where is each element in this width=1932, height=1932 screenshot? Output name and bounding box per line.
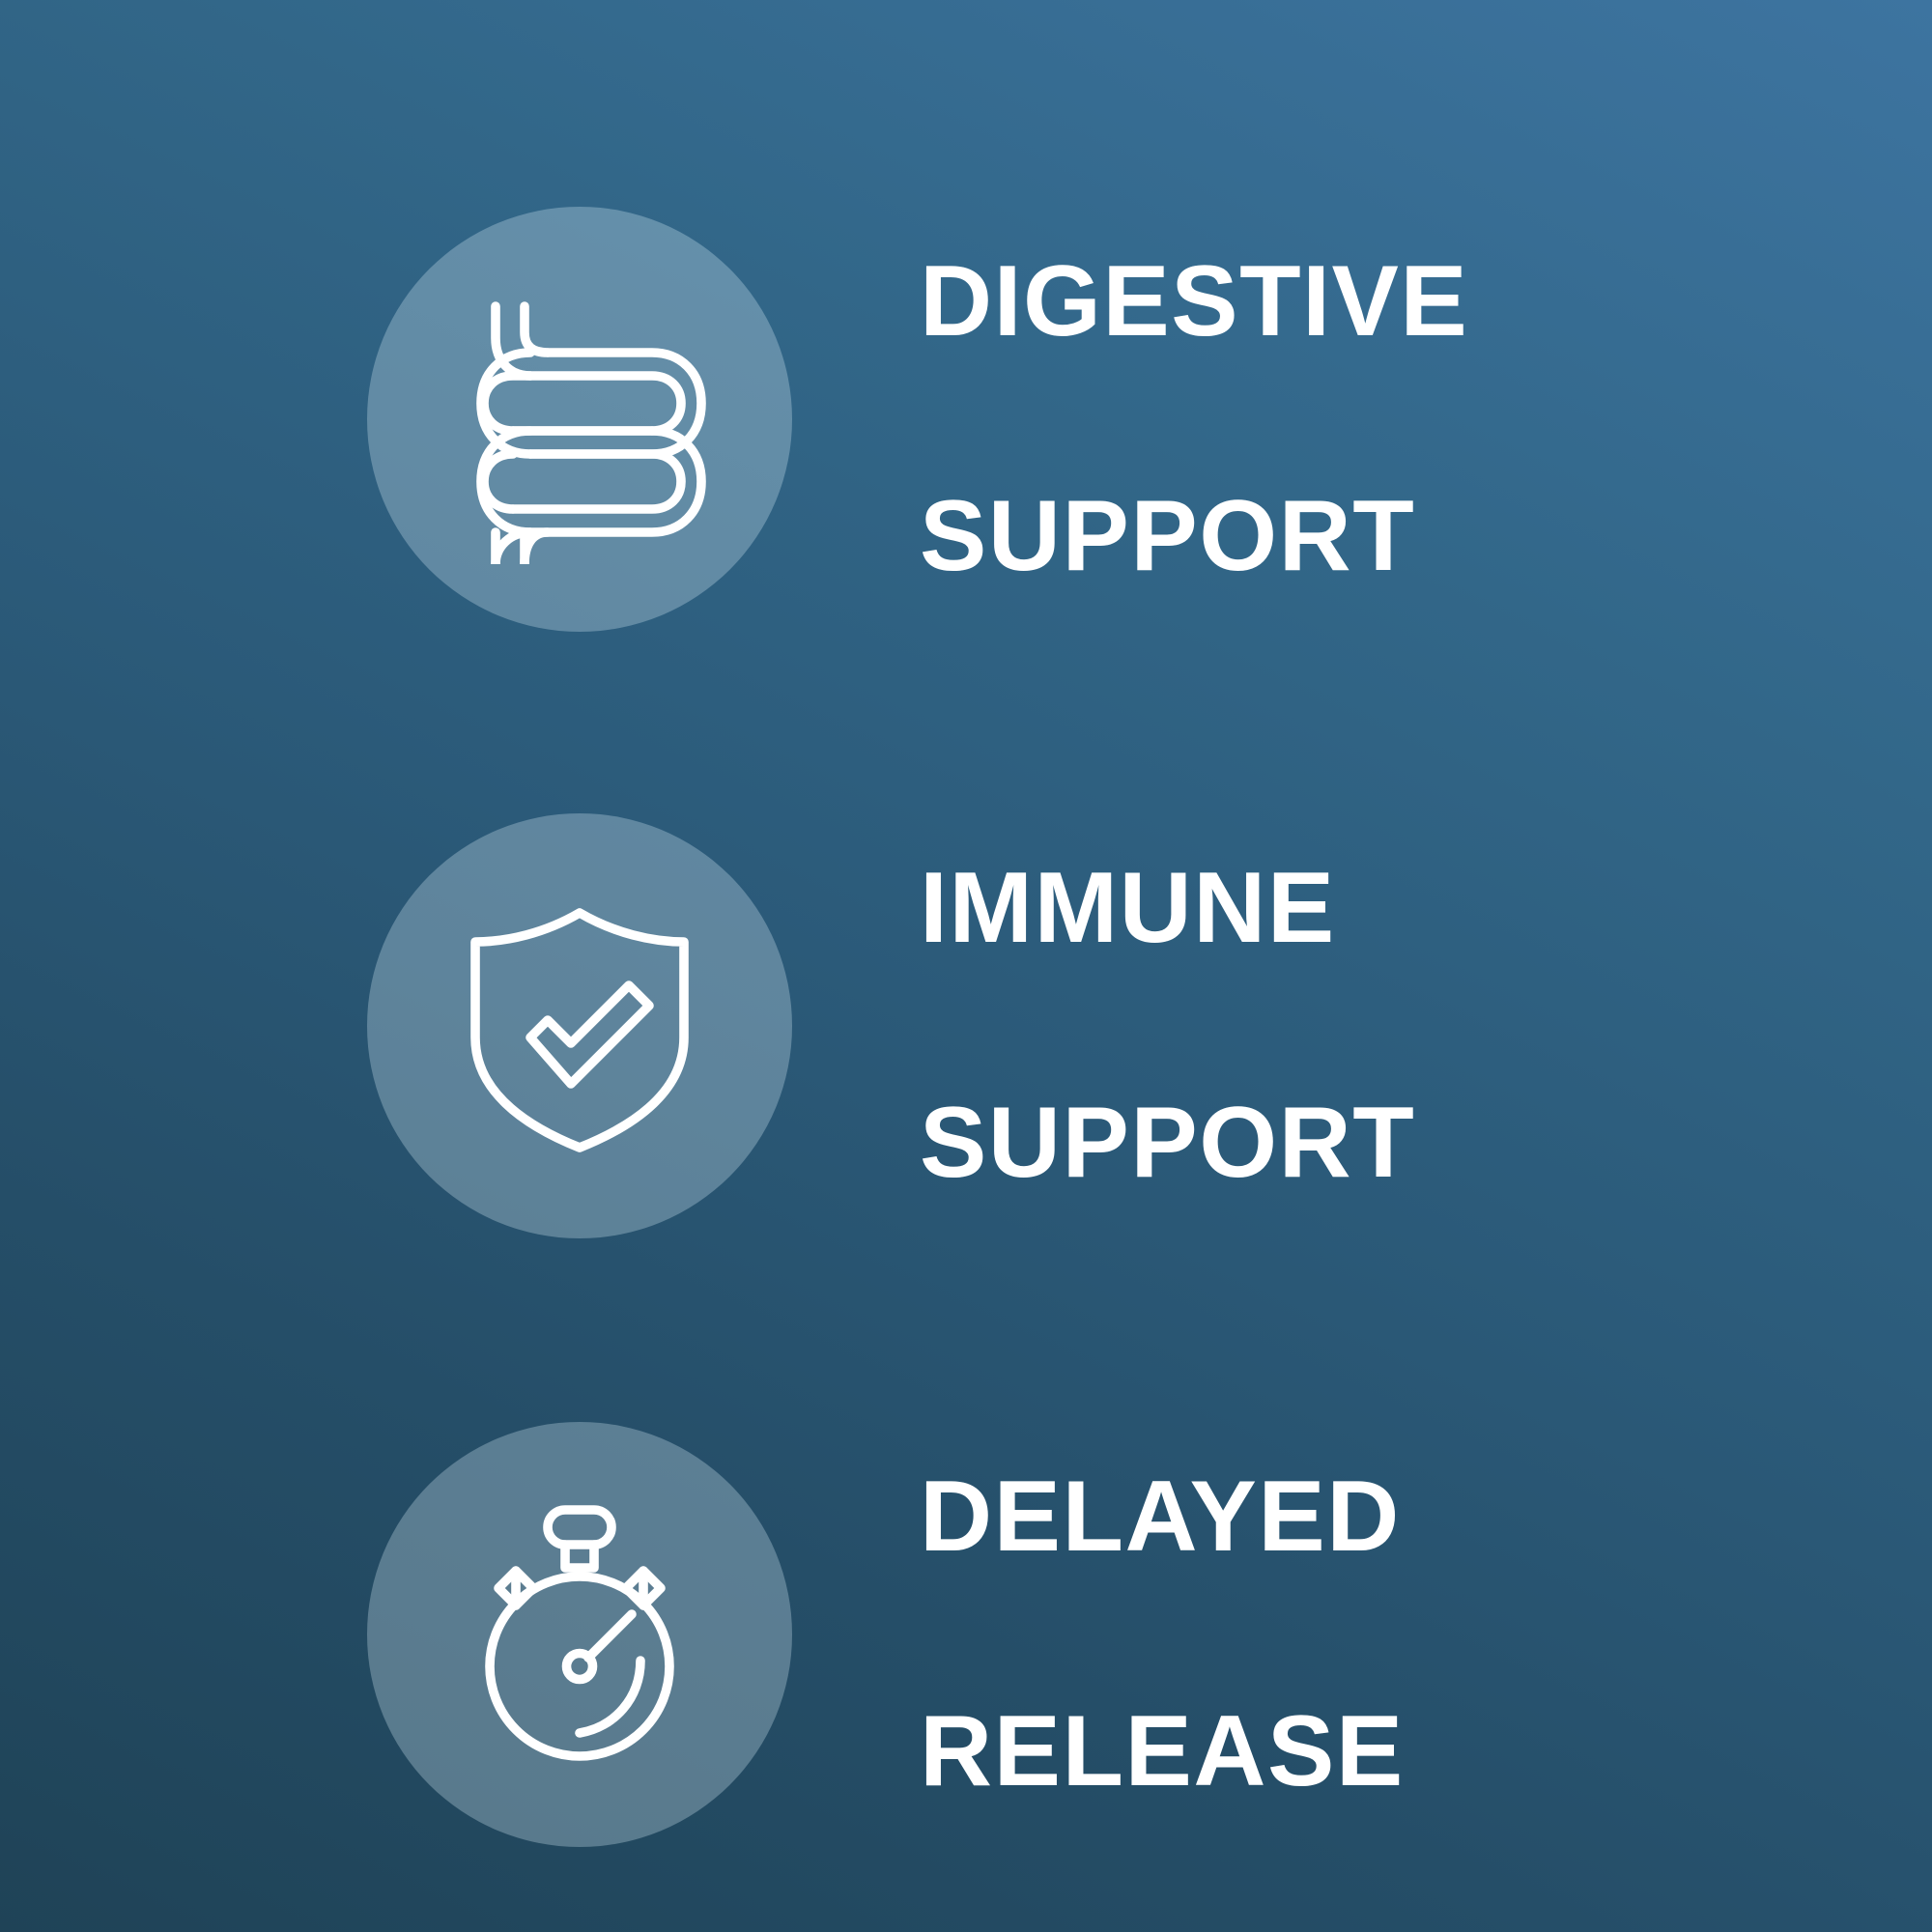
shield-check-icon — [435, 881, 724, 1171]
feature-label-line-2: RELEASE — [920, 1693, 1405, 1811]
feature-label-immune-support: IMMUNE SUPPORT — [920, 732, 1415, 1320]
feature-label-line-1: DIGESTIVE — [920, 243, 1468, 361]
intestine-icon — [435, 274, 724, 564]
feature-item-digestive-support: DIGESTIVE SUPPORT — [367, 126, 1623, 713]
feature-item-delayed-release: DELAYED RELEASE — [367, 1341, 1623, 1928]
icon-badge-delayed-release — [367, 1422, 792, 1847]
icon-badge-immune — [367, 813, 792, 1238]
feature-label-line-2: SUPPORT — [920, 478, 1468, 596]
stopwatch-icon — [435, 1490, 724, 1779]
feature-list: DIGESTIVE SUPPORT IMMUNE SUPPORT — [0, 0, 1932, 1932]
feature-label-line-2: SUPPORT — [920, 1085, 1415, 1203]
feature-item-immune-support: IMMUNE SUPPORT — [367, 732, 1623, 1320]
feature-label-line-1: DELAYED — [920, 1459, 1405, 1577]
feature-label-line-1: IMMUNE — [920, 850, 1415, 968]
feature-label-digestive-support: DIGESTIVE SUPPORT — [920, 126, 1468, 713]
feature-label-delayed-release: DELAYED RELEASE — [920, 1341, 1405, 1928]
feature-graphic-canvas: DIGESTIVE SUPPORT IMMUNE SUPPORT — [0, 0, 1932, 1932]
icon-badge-digestive — [367, 207, 792, 632]
